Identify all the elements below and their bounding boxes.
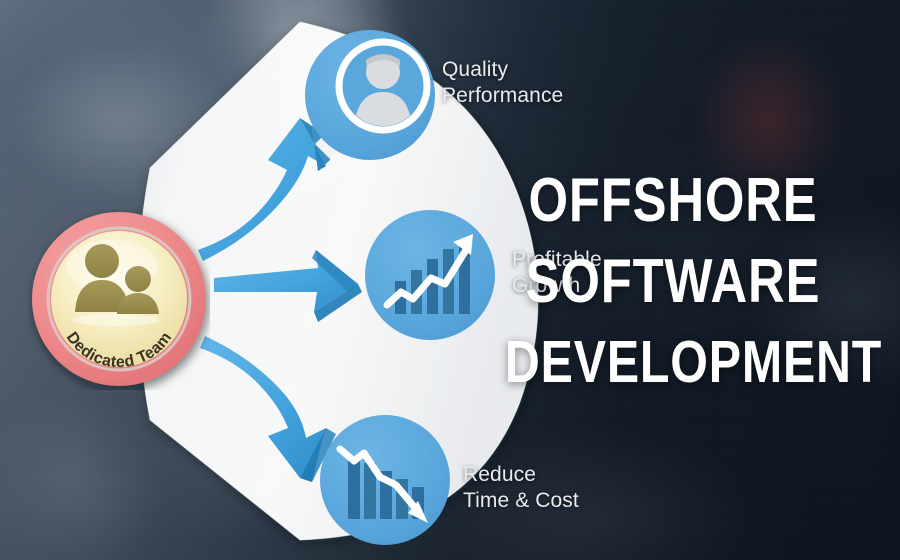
magnifier-person-icon <box>339 42 429 132</box>
infographic-canvas: Dedicated Team <box>0 0 900 560</box>
headline-block: Offshore Software Development <box>468 160 878 403</box>
arrow-3-body <box>200 336 326 478</box>
feature-circle-reduce[interactable] <box>320 415 450 545</box>
arrow-to-reduce <box>200 336 336 482</box>
headline-line-software: Software <box>505 241 841 322</box>
dedicated-team-badge[interactable]: Dedicated Team <box>28 208 210 390</box>
headline-line-offshore: Offshore <box>505 160 841 241</box>
feature-circle-quality[interactable] <box>295 20 455 180</box>
headline-line-development: Development <box>505 322 841 403</box>
feature-label-reduce: Reduce Time & Cost <box>463 462 579 514</box>
arrow-to-growth <box>214 250 362 322</box>
feature-label-quality: Quality Performance <box>442 57 563 109</box>
